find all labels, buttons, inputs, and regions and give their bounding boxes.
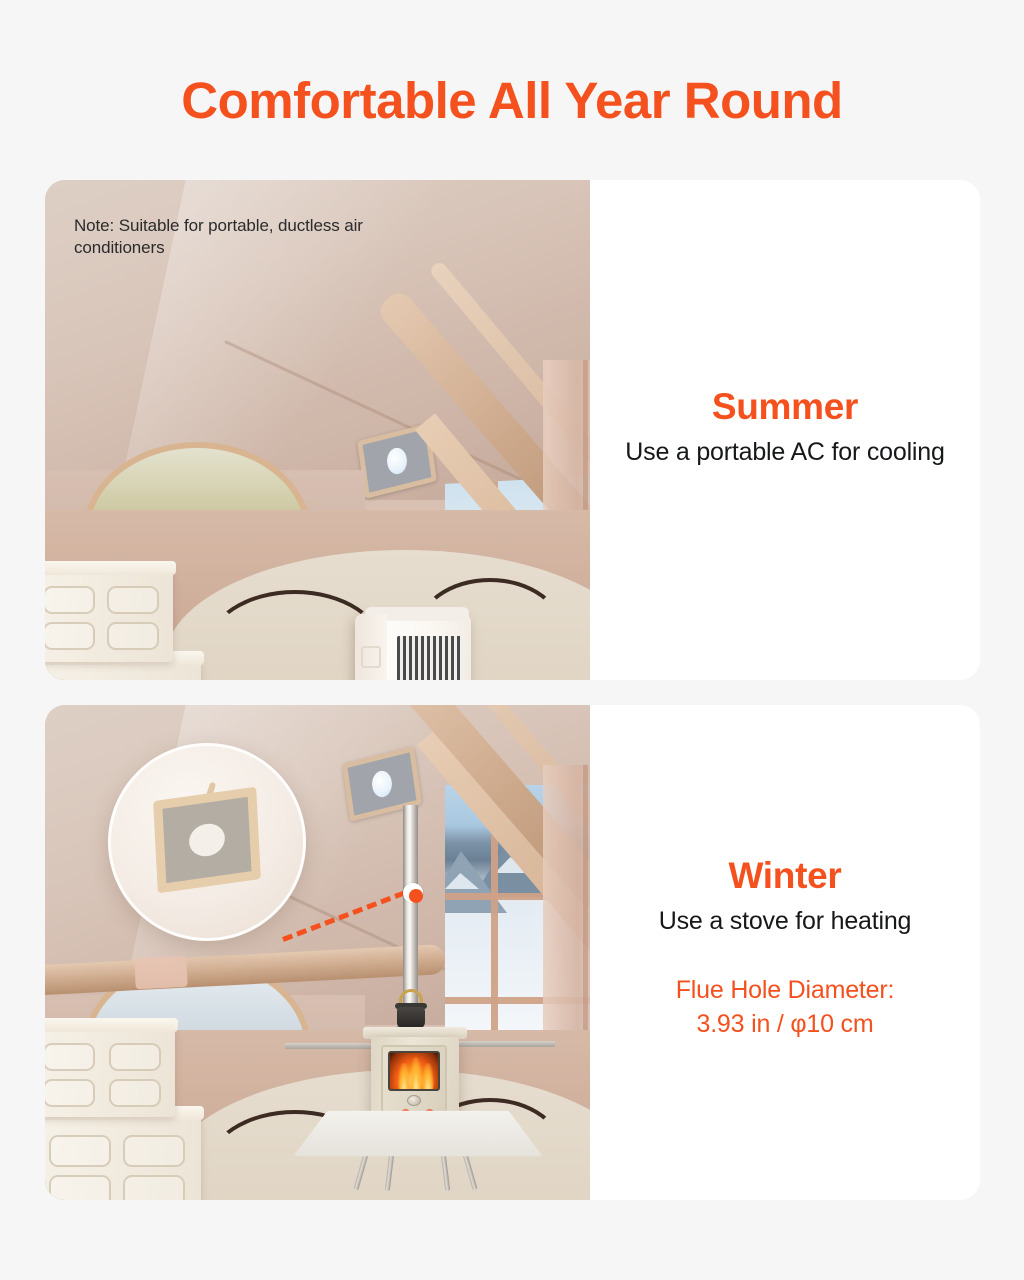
flue-spec-value: 3.93 in / φ10 cm (676, 1008, 895, 1042)
summer-photo: ~ Note: Suitable for portable, ductless … (45, 180, 590, 680)
crate-panel (45, 1079, 95, 1107)
stove-floor-mat (293, 1111, 542, 1156)
winter-season-title: Winter (729, 855, 842, 897)
ac-side-vent (361, 646, 381, 668)
ac-side-panel (355, 614, 387, 680)
storage-crate-top (45, 570, 173, 662)
tent-beam-band (134, 956, 188, 990)
summer-photo-note: Note: Suitable for portable, ductless ai… (74, 215, 404, 260)
crate-panel (107, 622, 159, 650)
oval-window-sky (89, 448, 305, 519)
stove-side-shelf-right (459, 1041, 555, 1047)
winter-text-pane: Winter Use a stove for heating Flue Hole… (590, 705, 980, 1200)
portable-air-conditioner: ~ (355, 614, 471, 680)
flue-spec-block: Flue Hole Diameter: 3.93 in / φ10 cm (676, 974, 895, 1042)
winter-description: Use a stove for heating (659, 907, 912, 936)
winter-photo (45, 705, 590, 1200)
flue-hole-opening (385, 446, 408, 477)
stove-chimney-pipe (403, 805, 418, 1010)
flue-hole-opening (370, 769, 393, 800)
stove-side-shelf-left (285, 1043, 371, 1049)
crate-panel (45, 1043, 95, 1071)
stove-air-vent (407, 1095, 421, 1106)
page-title: Comfortable All Year Round (0, 72, 1024, 131)
summer-description: Use a portable AC for cooling (625, 438, 944, 467)
crate-panel (49, 1175, 111, 1200)
winter-feature-card: Winter Use a stove for heating Flue Hole… (45, 705, 980, 1200)
summer-text-pane: Summer Use a portable AC for cooling (590, 180, 980, 680)
flue-hole-opening-magnified (188, 821, 225, 858)
storage-crate-bottom (45, 1115, 201, 1200)
storage-crate-bottom (45, 660, 201, 680)
crate-panel (109, 1079, 161, 1107)
summer-season-title: Summer (712, 386, 858, 428)
crate-panel (109, 1043, 161, 1071)
flame-icon (398, 1063, 410, 1091)
flame-icon (422, 1063, 434, 1091)
crate-panel (49, 1135, 111, 1167)
flue-hole-patch-magnified-icon (153, 787, 261, 894)
ac-vent-grille (397, 636, 463, 680)
flue-spec-label: Flue Hole Diameter: (676, 974, 895, 1008)
product-feature-page: Comfortable All Year Round (0, 0, 1024, 1280)
storage-crate-top (45, 1027, 175, 1117)
crate-panel (45, 586, 95, 614)
flue-hole-magnifier-inset (108, 743, 306, 941)
crate-panel (123, 1175, 185, 1200)
crate-panel (45, 622, 95, 650)
stove-glass-window (388, 1051, 440, 1091)
winter-tent-scene (45, 705, 590, 1200)
crate-panel (123, 1135, 185, 1167)
crate-panel (107, 586, 159, 614)
pointer-dot-icon (403, 883, 423, 903)
summer-feature-card: ~ Note: Suitable for portable, ductless … (45, 180, 980, 680)
kettle (397, 1007, 425, 1029)
storage-crate-lid (45, 561, 176, 575)
flame-icon (410, 1057, 422, 1091)
storage-crate-lid (45, 1018, 178, 1032)
